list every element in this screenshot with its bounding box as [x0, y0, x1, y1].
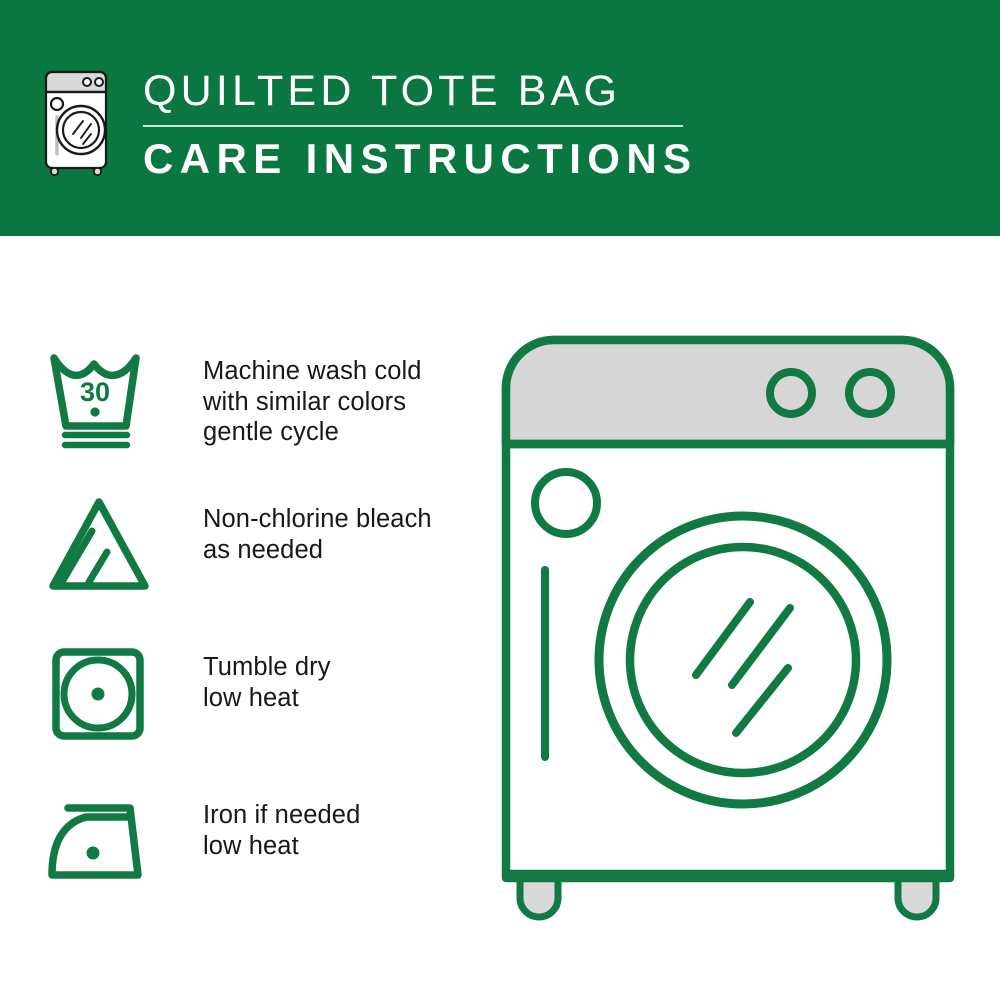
- care-text-iron: Iron if needed low heat: [160, 784, 360, 861]
- care-text-bleach: Non-chlorine bleach as needed: [160, 488, 432, 565]
- header-band: QUILTED TOTE BAG CARE INSTRUCTIONS: [0, 0, 1000, 236]
- care-row-tumble-dry: Tumble dry low heat: [48, 636, 478, 784]
- non-chlorine-bleach-icon: [48, 488, 160, 598]
- care-text-tumble-dry: Tumble dry low heat: [160, 636, 331, 713]
- title-divider: [143, 125, 683, 127]
- care-row-bleach: Non-chlorine bleach as needed: [48, 488, 478, 636]
- care-instructions-list: 30 Machine wash cold with similar colors…: [48, 340, 478, 932]
- header-title-block: QUILTED TOTE BAG CARE INSTRUCTIONS: [143, 66, 703, 183]
- washing-machine-icon: [43, 68, 109, 176]
- care-instructions-page: QUILTED TOTE BAG CARE INSTRUCTIONS 30: [0, 0, 1000, 1000]
- tumble-dry-low-icon: [48, 636, 160, 746]
- washing-machine-illustration: [498, 330, 968, 930]
- care-row-machine-wash: 30 Machine wash cold with similar colors…: [48, 340, 478, 488]
- care-text-machine-wash: Machine wash cold with similar colors ge…: [160, 340, 422, 448]
- machine-wash-30-icon: 30: [48, 340, 160, 450]
- page-title-line1: QUILTED TOTE BAG: [143, 66, 703, 116]
- svg-text:30: 30: [80, 377, 110, 407]
- care-row-iron: Iron if needed low heat: [48, 784, 478, 932]
- page-title-line2: CARE INSTRUCTIONS: [143, 135, 703, 183]
- iron-low-heat-icon: [48, 784, 160, 894]
